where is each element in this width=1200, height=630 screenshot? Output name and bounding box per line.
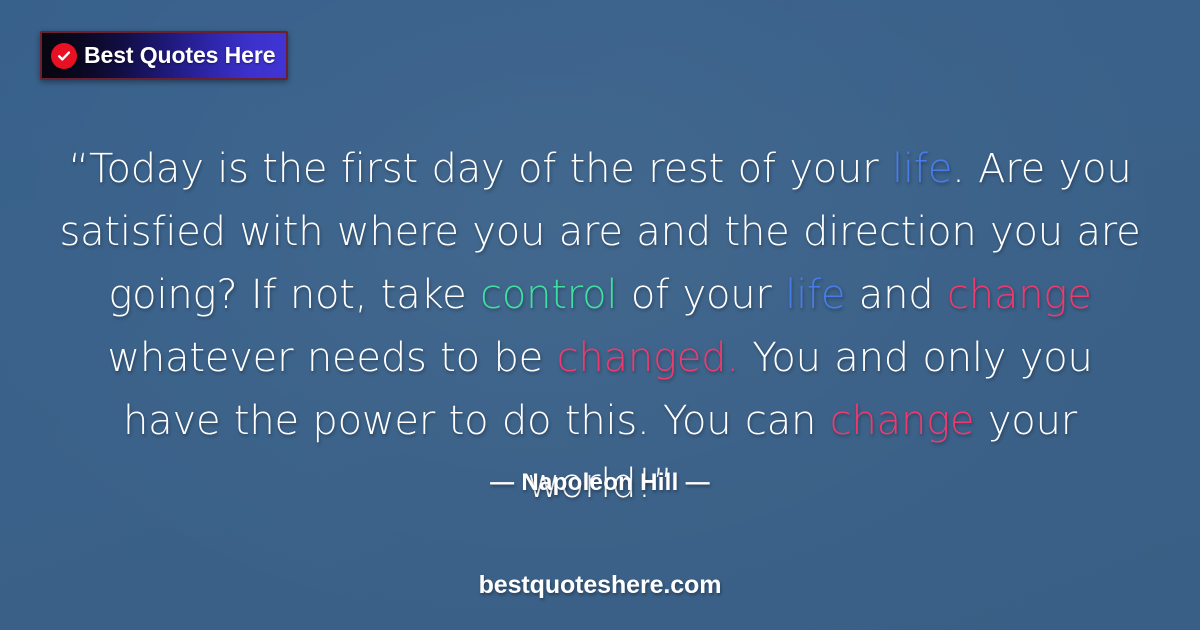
- check-circle-icon: [51, 43, 77, 69]
- quote-segment: “Today is the first day of the rest of y…: [68, 146, 892, 192]
- site-url-text: bestquoteshere.com: [0, 571, 1200, 600]
- quote-highlight-control: control: [480, 272, 617, 318]
- quote-segment: and: [845, 272, 947, 318]
- quote-card: Best Quotes Here “Today is the first day…: [0, 0, 1200, 630]
- quote-text: “Today is the first day of the rest of y…: [58, 138, 1142, 516]
- quote-block: “Today is the first day of the rest of y…: [0, 138, 1200, 516]
- site-logo-badge[interactable]: Best Quotes Here: [40, 31, 288, 80]
- quote-highlight-changed: changed.: [557, 335, 739, 381]
- quote-highlight-life: life: [892, 146, 952, 192]
- quote-segment: whatever needs to be: [107, 335, 556, 381]
- quote-attribution: — Napoleon Hill —: [0, 469, 1200, 497]
- site-logo-label: Best Quotes Here: [84, 44, 275, 67]
- quote-highlight-change: change: [947, 272, 1092, 318]
- quote-segment: of your: [617, 272, 785, 318]
- quote-highlight-change-2: change: [830, 398, 975, 444]
- quote-highlight-life-2: life: [785, 272, 845, 318]
